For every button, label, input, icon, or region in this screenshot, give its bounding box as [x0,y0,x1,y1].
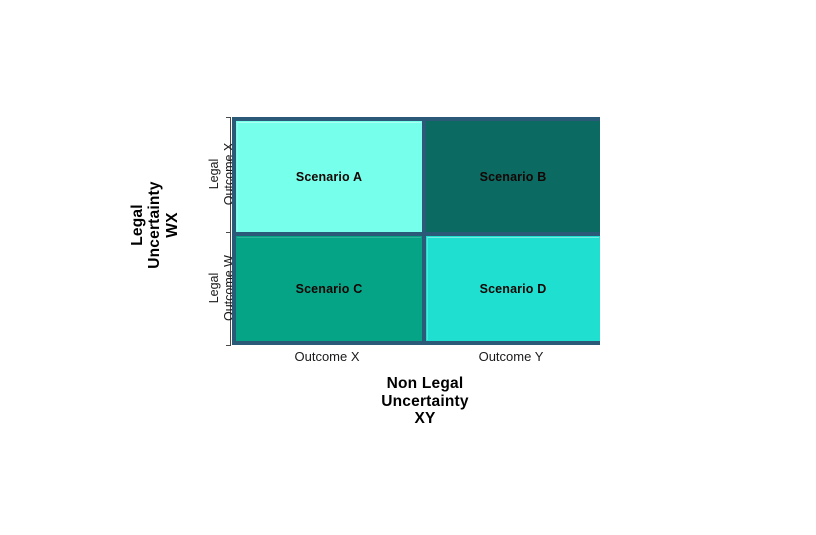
matrix-cell-scenario-c-label: Scenario C [296,282,363,296]
matrix-cell-scenario-b[interactable]: Scenario B [426,121,600,232]
matrix-cell-scenario-d[interactable]: Scenario D [426,236,600,341]
matrix-cell-scenario-a-label: Scenario A [296,170,362,184]
x-axis-tick-label-outcome-x-text: Outcome X [294,349,359,364]
matrix-cell-scenario-d-label: Scenario D [480,282,547,296]
matrix-cell-scenario-a[interactable]: Scenario A [236,121,422,232]
diagram-canvas: Legal Uncertainty WX Legal Outcome X Leg… [0,0,816,535]
x-axis-tick-label-outcome-x: Outcome X [232,346,422,366]
y-axis-tick-bottom [226,345,231,346]
x-axis-tick-label-outcome-y-text: Outcome Y [479,349,544,364]
x-axis-title: Non Legal Uncertainty XY [280,375,570,428]
y-axis-title-text: Legal Uncertainty WX [129,181,182,268]
x-axis-title-text: Non Legal Uncertainty XY [280,375,570,428]
scenario-matrix: Scenario A Scenario B Scenario C Scenari… [232,117,600,345]
x-axis-tick-label-outcome-y: Outcome Y [422,346,600,366]
matrix-cell-scenario-b-label: Scenario B [480,170,547,184]
matrix-cell-scenario-c[interactable]: Scenario C [236,236,422,341]
